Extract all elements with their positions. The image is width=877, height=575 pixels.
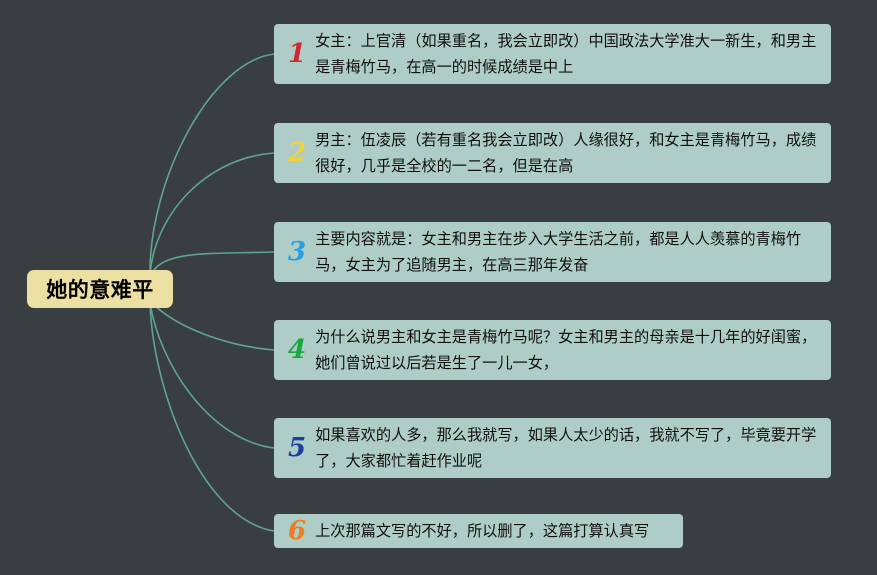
branch-text-6: 上次那篇文写的不好，所以删了，这篇打算认真写 (315, 521, 649, 541)
mindmap-canvas: 她的意难平 1 女主：上官清（如果重名，我会立即改）中国政法大学准大一新生，和男… (0, 0, 877, 575)
branch-text-4: 为什么说男主和女主是青梅竹马呢？女主和男主的母亲是十几年的好闺蜜，她们曾说过以后… (315, 324, 821, 376)
branch-number-5: 5 (288, 435, 306, 461)
branch-text-5: 如果喜欢的人多，那么我就写，如果人太少的话，我就不写了，毕竟要开学了，大家都忙着… (315, 422, 821, 474)
root-node-label: 她的意难平 (46, 274, 154, 304)
branch-node-3[interactable]: 3 主要内容就是：女主和男主在步入大学生活之前，都是人人羡慕的青梅竹马，女主为了… (274, 222, 831, 282)
branch-number-6: 6 (288, 518, 306, 544)
branch-node-1[interactable]: 1 女主：上官清（如果重名，我会立即改）中国政法大学准大一新生，和男主是青梅竹马… (274, 24, 831, 84)
edge-to-branch-2 (150, 153, 274, 274)
edge-to-branch-5 (150, 303, 274, 448)
branch-number-2: 2 (288, 140, 306, 166)
edge-to-branch-1 (150, 54, 274, 272)
branch-node-5[interactable]: 5 如果喜欢的人多，那么我就写，如果人太少的话，我就不写了，毕竟要开学了，大家都… (274, 418, 831, 478)
branch-text-2: 男主：伍凌辰（若有重名我会立即改）人缘很好，和女主是青梅竹马，成绩很好，几乎是全… (315, 127, 821, 179)
branch-node-2[interactable]: 2 男主：伍凌辰（若有重名我会立即改）人缘很好，和女主是青梅竹马，成绩很好，几乎… (274, 123, 831, 183)
edge-to-branch-6 (150, 306, 274, 531)
root-node[interactable]: 她的意难平 (27, 270, 173, 308)
branch-text-1: 女主：上官清（如果重名，我会立即改）中国政法大学准大一新生，和男主是青梅竹马，在… (315, 28, 821, 80)
branch-node-6[interactable]: 6 上次那篇文写的不好，所以删了，这篇打算认真写 (274, 514, 683, 548)
branch-number-4: 4 (288, 337, 306, 363)
branch-text-3: 主要内容就是：女主和男主在步入大学生活之前，都是人人羡慕的青梅竹马，女主为了追随… (315, 226, 821, 278)
branch-number-1: 1 (288, 41, 306, 67)
branch-node-4[interactable]: 4 为什么说男主和女主是青梅竹马呢？女主和男主的母亲是十几年的好闺蜜，她们曾说过… (274, 320, 831, 380)
branch-number-3: 3 (288, 239, 306, 265)
